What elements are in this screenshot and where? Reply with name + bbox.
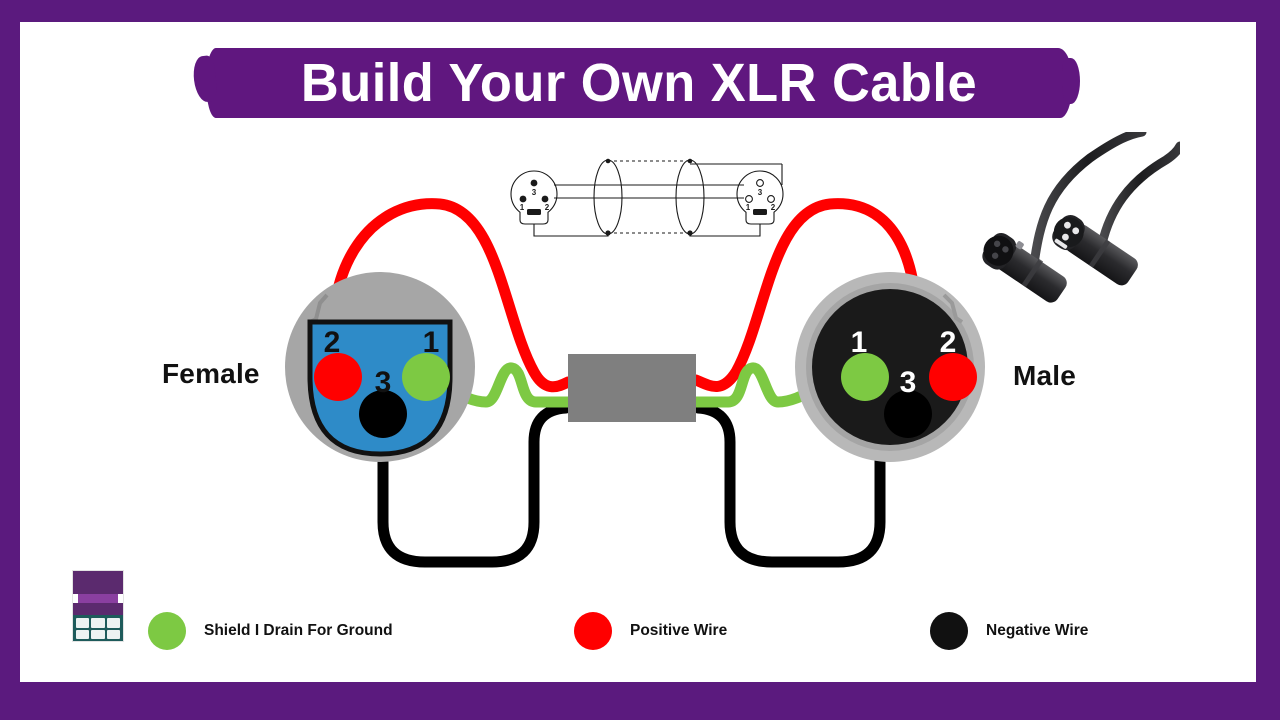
brand-thumb-icon-1 xyxy=(76,618,89,628)
main-wiring-diagram: 2 1 3 1 2 3 xyxy=(20,22,1256,682)
legend-item-positive: Positive Wire xyxy=(574,609,727,653)
legend-label-ground: Shield I Drain For Ground xyxy=(204,622,393,640)
male-pin-1-label: 1 xyxy=(851,326,868,359)
brand-thumb-icon-6 xyxy=(107,630,120,640)
legend-label-positive: Positive Wire xyxy=(630,622,727,640)
brand-thumb-icon-grid xyxy=(73,615,123,642)
brand-thumb-band xyxy=(78,594,118,603)
content-canvas: Build Your Own XLR Cable xyxy=(20,22,1256,682)
legend: Shield I Drain For Ground Positive Wire … xyxy=(140,600,1160,662)
legend-dot-ground xyxy=(148,612,186,650)
label-male: Male xyxy=(1013,360,1076,392)
female-pin-1-label: 1 xyxy=(423,326,440,359)
cable-jacket-block xyxy=(568,354,696,422)
legend-dot-positive xyxy=(574,612,612,650)
label-female: Female xyxy=(162,358,260,390)
female-pin-2-label: 2 xyxy=(324,326,341,359)
male-pin-2 xyxy=(929,353,977,401)
brand-thumb-icon-3 xyxy=(107,618,120,628)
legend-label-negative: Negative Wire xyxy=(986,622,1088,640)
legend-dot-negative xyxy=(930,612,968,650)
brand-thumb-header xyxy=(73,571,123,594)
female-pin-2 xyxy=(314,353,362,401)
legend-item-negative: Negative Wire xyxy=(930,609,1088,653)
brand-thumbnail xyxy=(72,570,124,642)
female-pin-3-label: 3 xyxy=(375,366,392,399)
male-connector: 1 2 3 xyxy=(795,272,985,462)
female-pin-1 xyxy=(402,353,450,401)
male-pin-3-label: 3 xyxy=(900,366,917,399)
brand-thumb-mid xyxy=(73,603,123,615)
screenshot-root: Build Your Own XLR Cable xyxy=(0,0,1280,720)
brand-thumb-icon-2 xyxy=(91,618,104,628)
brand-thumb-icon-4 xyxy=(76,630,89,640)
brand-thumb-icon-5 xyxy=(91,630,104,640)
legend-item-ground: Shield I Drain For Ground xyxy=(148,609,393,653)
female-connector: 2 1 3 xyxy=(285,272,475,462)
male-pin-2-label: 2 xyxy=(940,326,957,359)
male-pin-1 xyxy=(841,353,889,401)
